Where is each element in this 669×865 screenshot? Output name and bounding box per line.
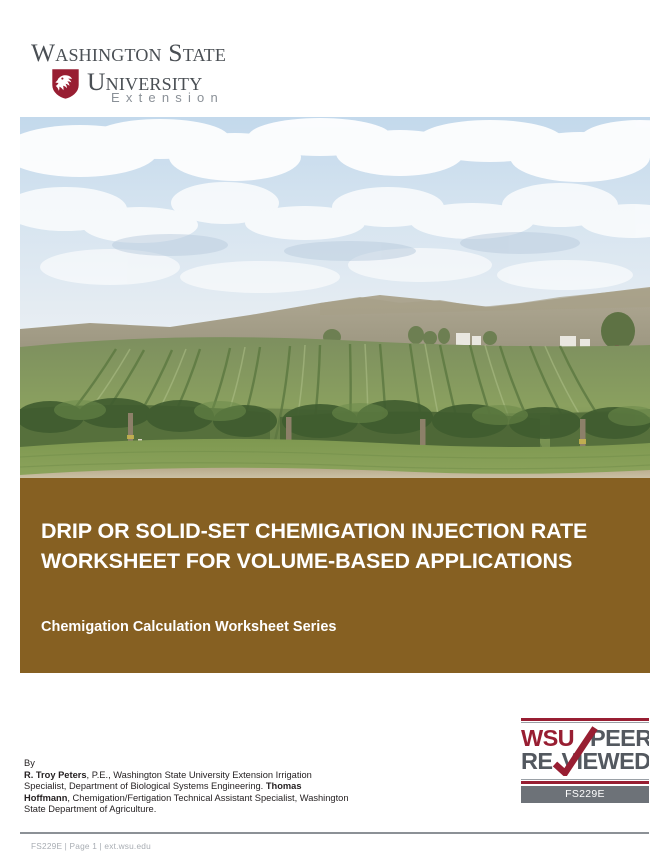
badge-top-rule-gray bbox=[521, 722, 649, 723]
logo-line-extension: Extension bbox=[111, 90, 224, 105]
badge-re-text: RE bbox=[521, 748, 552, 774]
wsu-extension-logo: Washington State University Extension bbox=[31, 40, 291, 112]
wsu-cougar-shield-icon bbox=[50, 67, 81, 101]
byline-author-1-name: R. Troy Peters bbox=[24, 770, 87, 780]
badge-wordmark: WSUPEER REVIEWED bbox=[521, 726, 649, 776]
byline-label: By bbox=[24, 758, 349, 770]
byline-author-2-detail: , Chemigation/Fertigation Technical Assi… bbox=[24, 793, 349, 815]
page-subtitle: Chemigation Calculation Worksheet Series bbox=[41, 618, 631, 636]
title-band: DRIP OR SOLID-SET CHEMIGATION INJECTION … bbox=[20, 478, 650, 673]
publication-number-bar: FS229E bbox=[521, 786, 649, 803]
cover-photo-vineyard bbox=[20, 117, 650, 478]
peer-reviewed-badge: WSUPEER REVIEWED FS229E bbox=[521, 718, 649, 803]
badge-viewed-text: VIEWED bbox=[552, 748, 649, 774]
badge-line-2: REVIEWED bbox=[521, 749, 649, 774]
byline: By R. Troy Peters, P.E., Washington Stat… bbox=[24, 758, 349, 816]
badge-bottom-rules bbox=[521, 779, 649, 784]
logo-line-washington-state: Washington State bbox=[31, 40, 291, 66]
badge-bottom-rule-crimson bbox=[521, 781, 649, 784]
footer-text: FS229E | Page 1 | ext.wsu.edu bbox=[31, 841, 151, 851]
page-title: DRIP OR SOLID-SET CHEMIGATION INJECTION … bbox=[41, 516, 631, 576]
footer-divider bbox=[20, 832, 649, 834]
